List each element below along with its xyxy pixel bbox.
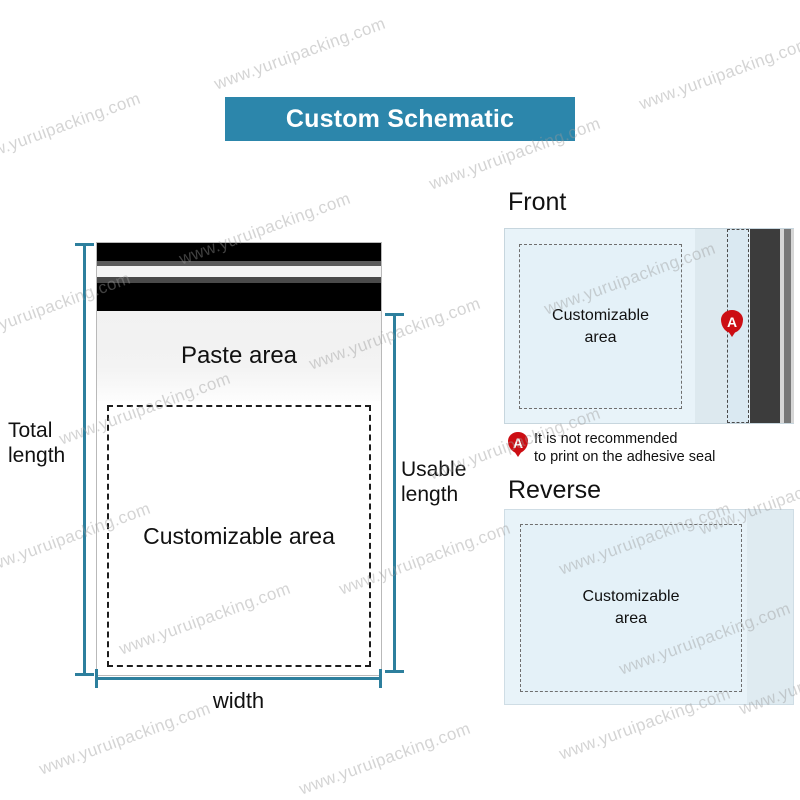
paste-area-region: Paste area <box>97 311 381 401</box>
stripe-black-top <box>97 243 381 261</box>
front-warning-note: A It is not recommended to print on the … <box>508 430 788 466</box>
front-panel-diagram: Customizable area <box>504 228 794 424</box>
front-customizable-area-label-line1: Customizable <box>552 305 649 327</box>
front-warning-note-line2: to print on the adhesive seal <box>534 448 715 466</box>
schematic-canvas: Custom Schematic Paste area Customizable… <box>0 0 800 800</box>
front-heading: Front <box>508 188 566 217</box>
usable-length-label-line1: Usable <box>401 458 487 483</box>
width-dimension-line <box>95 677 382 680</box>
usable-length-label-line2: length <box>401 483 487 508</box>
total-length-label-line2: length <box>8 444 78 469</box>
usable-length-label: Usable length <box>401 458 487 508</box>
reverse-customizable-area-label-line1: Customizable <box>583 586 680 608</box>
marker-a-glyph: A <box>727 315 737 329</box>
reverse-margin-strip <box>747 510 793 704</box>
dimension-cap-left <box>95 669 98 688</box>
main-customizable-area-label: Customizable area <box>143 523 335 550</box>
front-panel-body: Customizable area <box>505 229 695 423</box>
main-customizable-area: Customizable area <box>107 405 371 667</box>
reverse-customizable-area: Customizable area <box>520 524 742 692</box>
front-customizable-area-label-line2: area <box>584 327 616 349</box>
total-length-label: Total length <box>8 419 78 469</box>
marker-a-shape: A <box>721 310 743 333</box>
dimension-cap-top <box>385 313 404 316</box>
front-edge-bar-1 <box>750 229 780 423</box>
reverse-heading: Reverse <box>508 476 601 505</box>
page-title-banner: Custom Schematic <box>225 97 575 141</box>
marker-a-shape: A <box>508 432 528 453</box>
warning-marker-a-icon: A <box>508 432 528 453</box>
width-label: width <box>95 688 382 714</box>
bag-main-diagram: Paste area Customizable area <box>96 242 382 676</box>
warning-marker-a-icon: A <box>721 310 743 333</box>
stripe-black-lower <box>97 283 381 311</box>
total-length-label-line1: Total <box>8 419 78 444</box>
front-warning-note-text: It is not recommended to print on the ad… <box>534 430 715 466</box>
reverse-customizable-area-label-line2: area <box>615 608 647 630</box>
reverse-panel-diagram: Customizable area <box>504 509 794 705</box>
dimension-cap-bottom <box>385 670 404 673</box>
dimension-cap-right <box>379 669 382 688</box>
marker-a-glyph: A <box>513 436 523 450</box>
page-title: Custom Schematic <box>286 105 514 134</box>
front-customizable-area: Customizable area <box>519 244 682 409</box>
paste-area-label: Paste area <box>181 342 297 370</box>
dimension-cap-top <box>75 243 94 246</box>
dimension-cap-bottom <box>75 673 94 676</box>
total-length-dimension-line <box>83 243 86 676</box>
stripe-white-band <box>97 266 381 277</box>
front-edge-bar-3 <box>784 229 791 423</box>
usable-length-dimension-line <box>393 313 396 673</box>
front-warning-note-line1: It is not recommended <box>534 430 715 448</box>
